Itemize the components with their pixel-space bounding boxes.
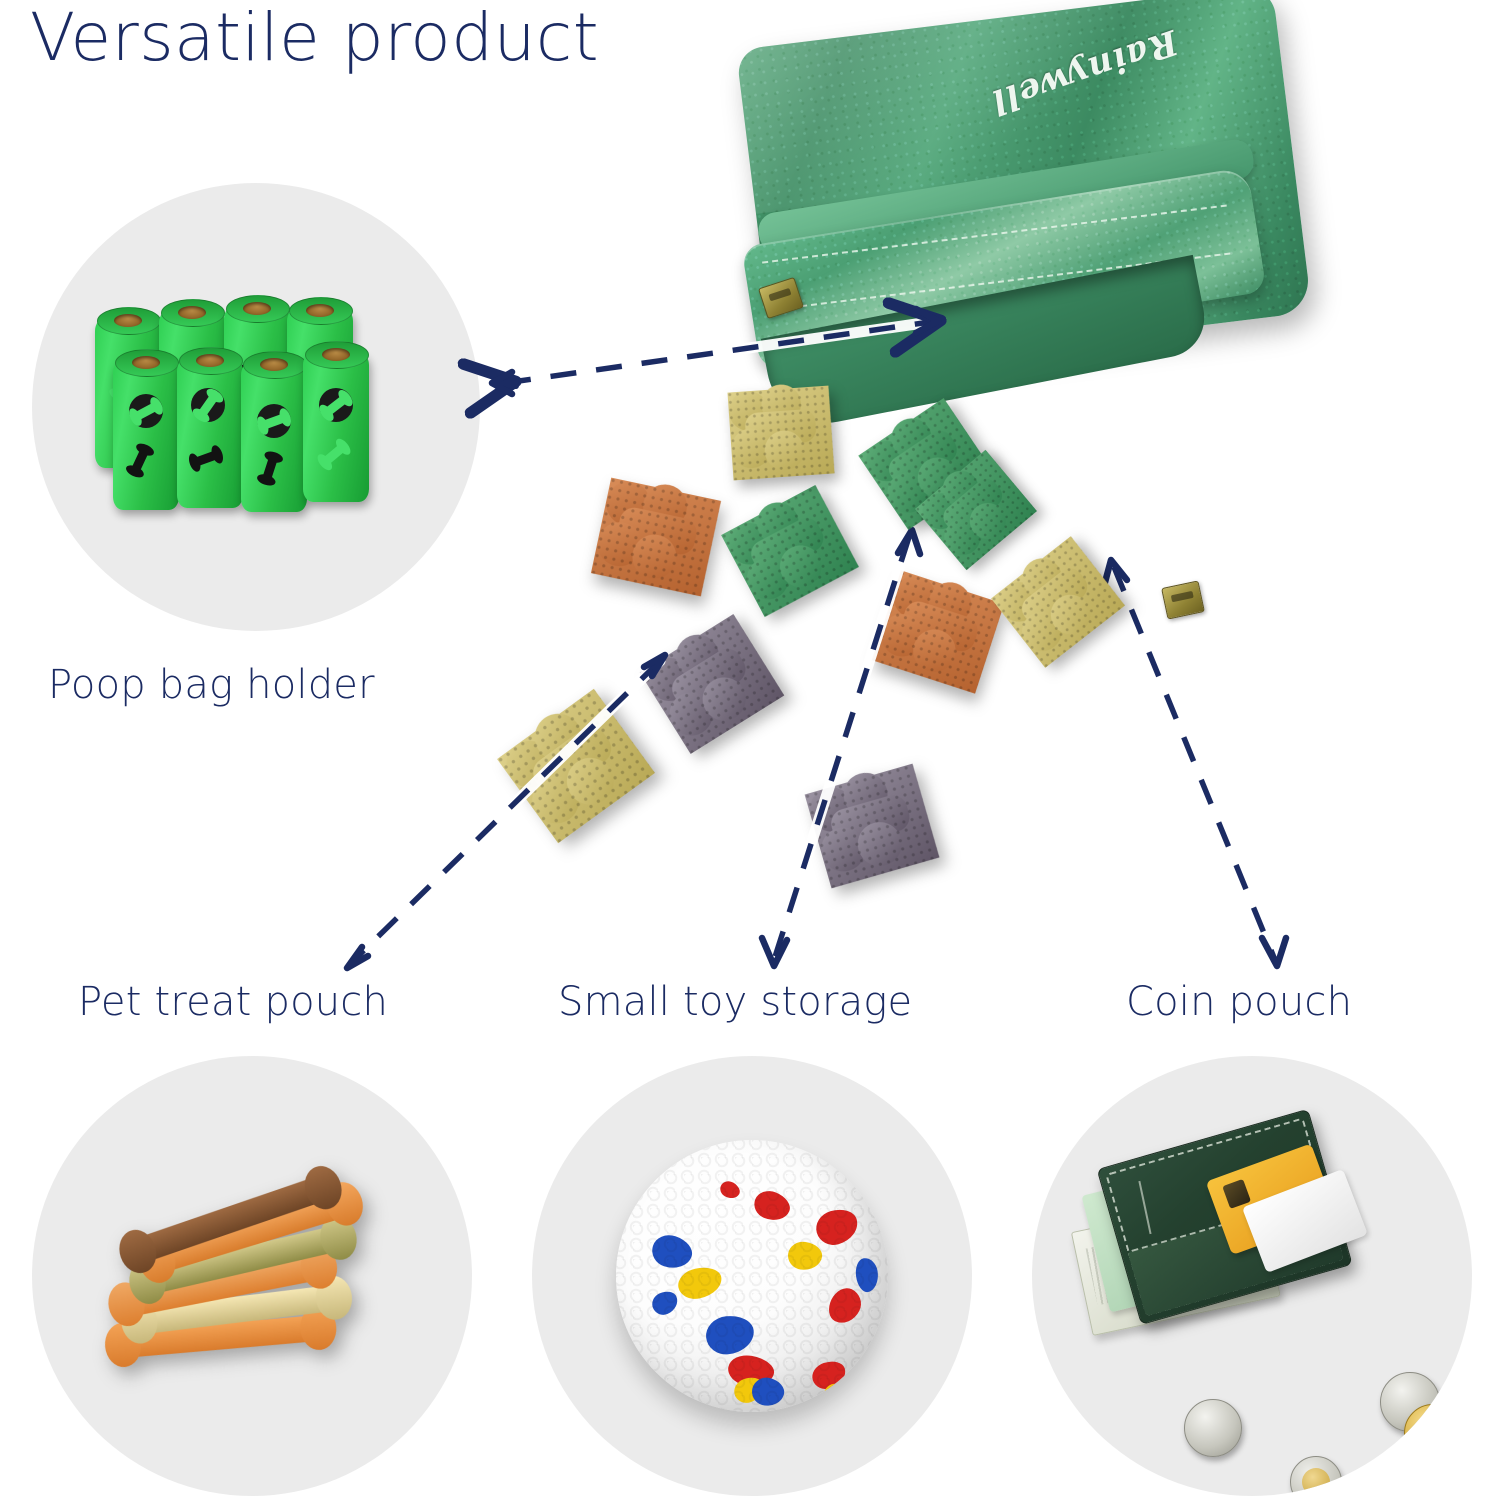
treat-bone bbox=[727, 386, 834, 481]
photo-poop-bag-holder bbox=[32, 183, 480, 631]
callout-label-poop-bag-holder: Poop bag holder bbox=[48, 663, 375, 707]
bag-roll bbox=[241, 362, 307, 512]
callout-label-small-toy-storage: Small toy storage bbox=[558, 980, 912, 1024]
foam-toy-ball bbox=[616, 1140, 888, 1412]
photo-pet-treat-pouch bbox=[32, 1056, 472, 1496]
coin bbox=[1184, 1399, 1242, 1457]
wallet-scene bbox=[1032, 1056, 1472, 1496]
bag-roll bbox=[177, 358, 243, 508]
treat-bone bbox=[805, 764, 940, 889]
treat-bone bbox=[497, 689, 655, 843]
infographic-canvas: Versatile product bbox=[0, 0, 1493, 1500]
callout-label-pet-treat-pouch: Pet treat pouch bbox=[78, 980, 388, 1024]
brass-snap-frame-right bbox=[1161, 580, 1205, 619]
bag-roll bbox=[113, 360, 179, 510]
poop-bag-rolls bbox=[91, 302, 421, 512]
card-wallet bbox=[1079, 1105, 1374, 1366]
arrow-pet-treat-pouch bbox=[347, 655, 665, 968]
page-title: Versatile product bbox=[30, 0, 599, 77]
callout-label-coin-pouch: Coin pouch bbox=[1126, 980, 1352, 1024]
treat-bone bbox=[591, 478, 721, 597]
photo-small-toy-storage bbox=[532, 1056, 972, 1496]
coin bbox=[1290, 1456, 1342, 1496]
chew-bone-stack bbox=[89, 1168, 415, 1403]
photo-coin-pouch bbox=[1032, 1056, 1472, 1496]
bag-roll bbox=[303, 352, 369, 502]
coin bbox=[1404, 1404, 1462, 1462]
